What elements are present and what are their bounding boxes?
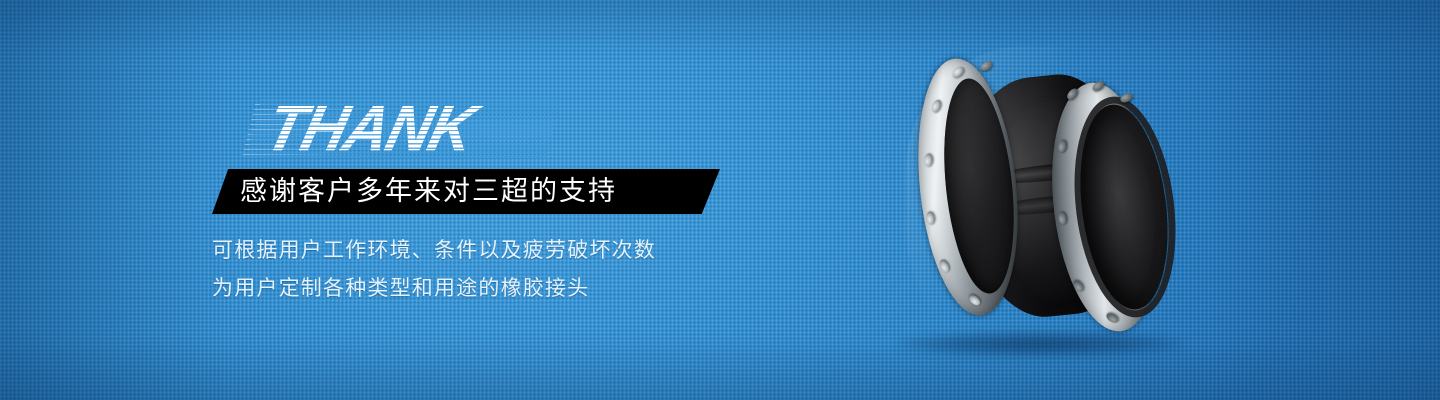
product-shadow xyxy=(896,331,1186,357)
wordmark: THANK xyxy=(276,96,536,160)
bolt-hole xyxy=(979,59,994,72)
promo-banner: THANK 感谢客户多年来对三超的支持 可根据用户工作环境、条件以及疲劳破坏次数… xyxy=(0,0,1440,400)
product-image xyxy=(906,46,1206,356)
body-copy: 可根据用户工作环境、条件以及疲劳破坏次数 为用户定制各种类型和用途的橡胶接头 xyxy=(212,232,772,308)
body-line-2: 为用户定制各种类型和用途的橡胶接头 xyxy=(212,270,772,308)
body-line-1: 可根据用户工作环境、条件以及疲劳破坏次数 xyxy=(212,232,772,270)
headline-text: 感谢客户多年来对三超的支持 xyxy=(240,169,617,214)
background-vignette xyxy=(0,0,1440,400)
wordmark-text: THANK xyxy=(260,96,481,162)
